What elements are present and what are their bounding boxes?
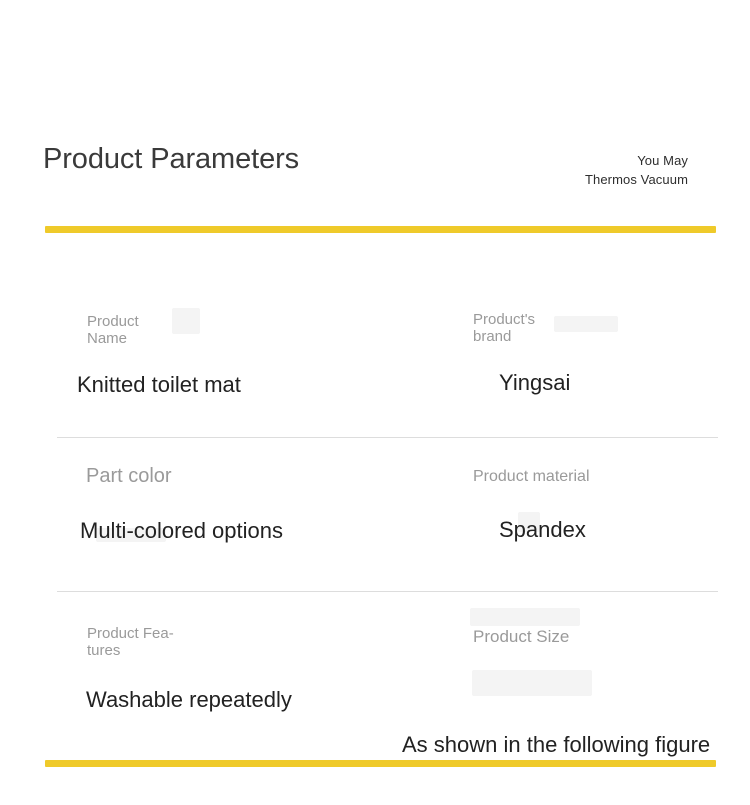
- compression-ghost: [172, 308, 200, 334]
- page-header: Product Parameters You May Thermos Vacuu…: [0, 140, 750, 210]
- spec-value-product-size: As shown in the following figure: [402, 732, 710, 758]
- spec-label-product-features: Product Fea- tures: [87, 625, 174, 659]
- spec-value-product-material: Spandex: [499, 517, 586, 543]
- spec-table: Product Name Knitted toilet mat Product'…: [0, 286, 750, 760]
- spec-label-part-color: Part color: [86, 464, 172, 488]
- spec-value-products-brand: Yingsai: [499, 370, 570, 396]
- accent-rule-top: [45, 226, 716, 233]
- spec-label-product-name: Product Name: [87, 313, 139, 347]
- brand-line-2: Thermos Vacuum: [585, 170, 688, 189]
- spec-row: Product Fea- tures Washable repeatedly P…: [0, 592, 750, 760]
- compression-ghost: [472, 670, 592, 696]
- spec-row: Part color Multi-colored options Product…: [0, 438, 750, 592]
- spec-label-product-material: Product material: [473, 467, 590, 486]
- page-title: Product Parameters: [43, 140, 299, 178]
- spec-value-product-features: Washable repeatedly: [86, 687, 292, 713]
- compression-ghost: [470, 608, 580, 626]
- brand-line-1: You May: [585, 151, 688, 170]
- product-parameters-page: Product Parameters You May Thermos Vacuu…: [0, 0, 750, 805]
- spec-row: Product Name Knitted toilet mat Product'…: [0, 286, 750, 438]
- spec-value-part-color: Multi-colored options: [80, 518, 283, 544]
- accent-rule-bottom: [45, 760, 716, 767]
- compression-ghost: [554, 316, 618, 332]
- spec-label-products-brand: Product's brand: [473, 311, 535, 345]
- brand-watermark: You May Thermos Vacuum: [585, 151, 688, 189]
- spec-value-product-name: Knitted toilet mat: [77, 372, 241, 398]
- spec-label-product-size: Product Size: [473, 627, 569, 647]
